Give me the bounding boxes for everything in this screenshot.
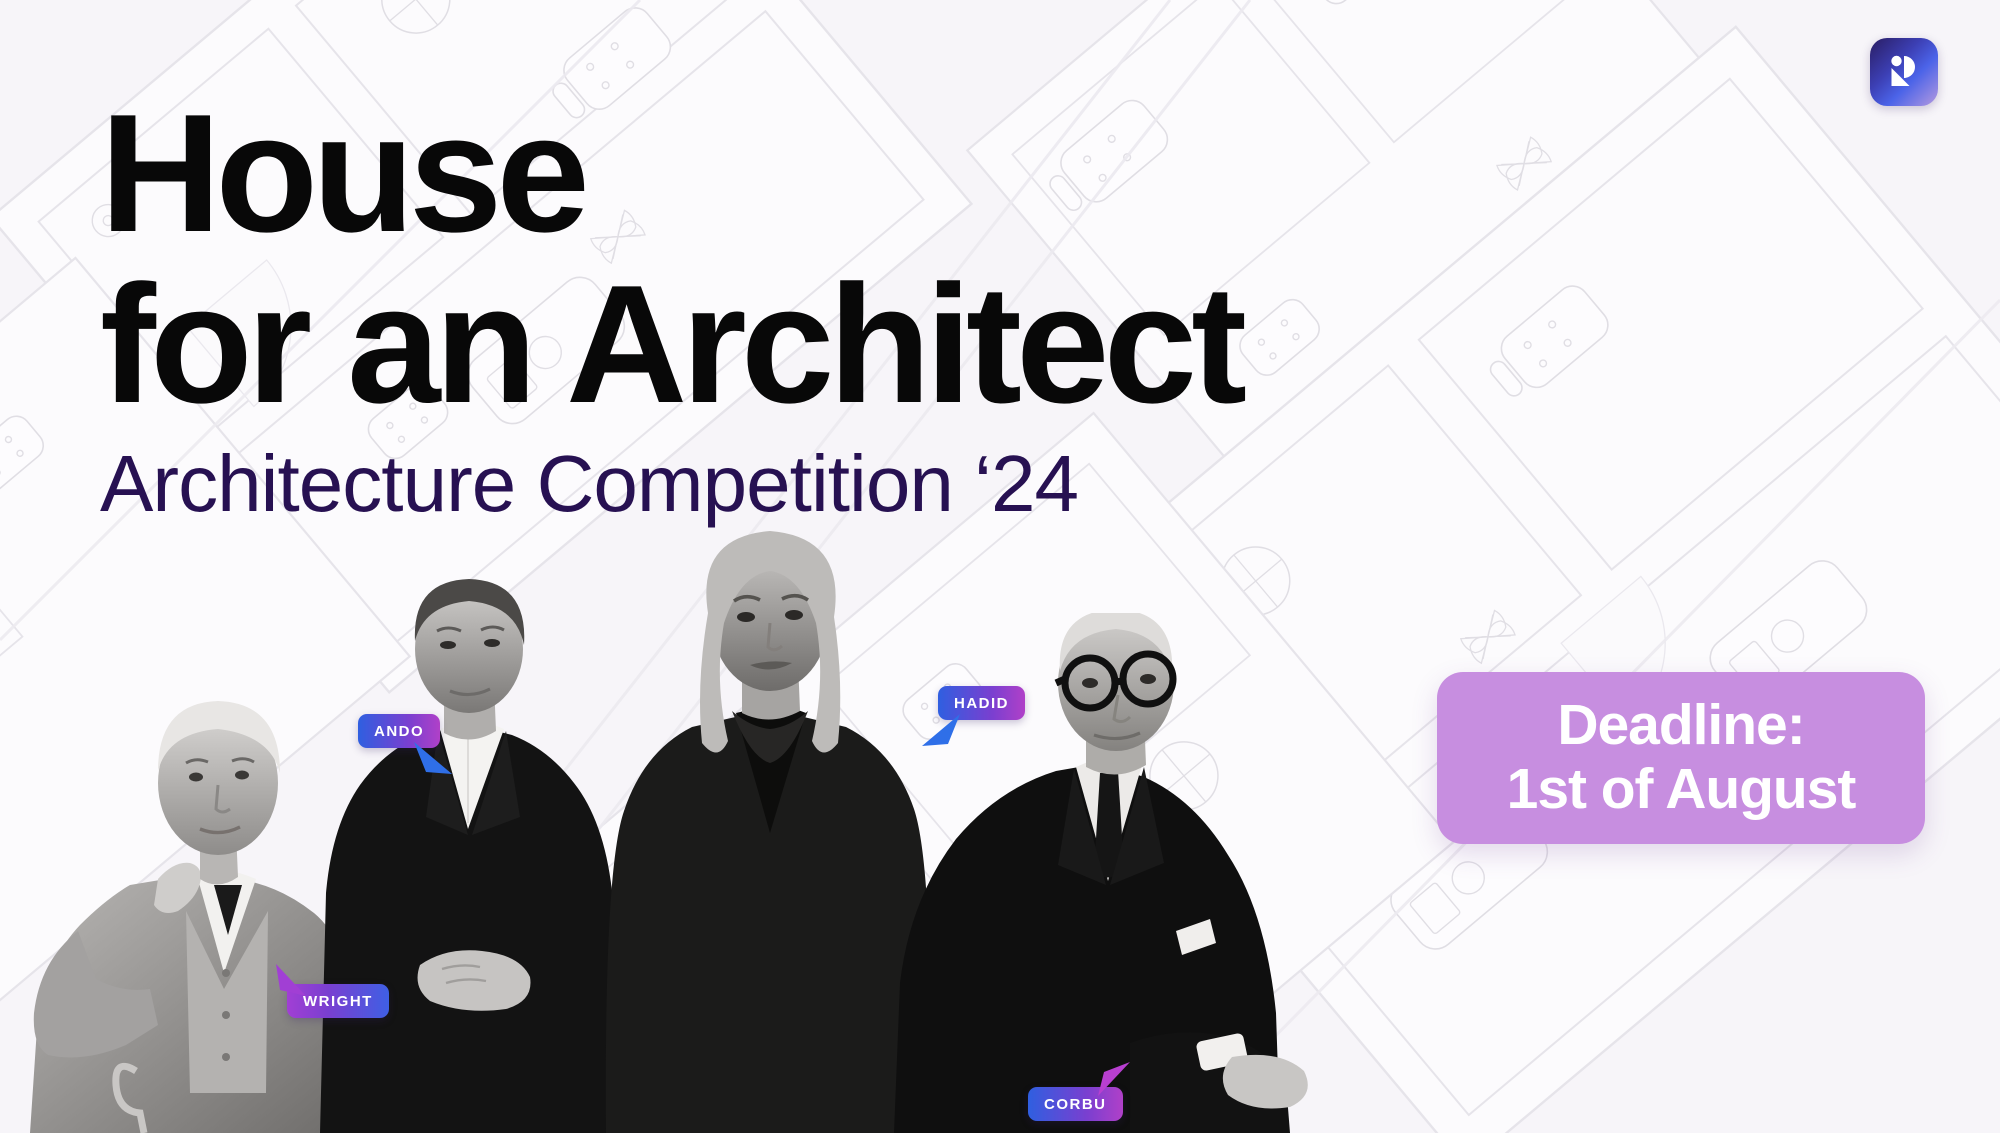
name-tag-ando-label: ANDO — [374, 723, 424, 740]
brand-logo-mark-icon — [1884, 52, 1924, 92]
name-tag-corbu-pointer-icon — [1092, 1060, 1134, 1102]
name-tag-hadid-pointer-icon — [920, 712, 962, 752]
portrait-tadao-ando — [316, 573, 636, 1133]
deadline-badge[interactable]: Deadline: 1st of August — [1437, 672, 1925, 844]
deadline-line-1: Deadline: — [1557, 694, 1804, 758]
name-tag-wright-label: WRIGHT — [303, 993, 373, 1010]
headline-line-1: House — [100, 92, 1241, 255]
brand-logo[interactable] — [1870, 38, 1938, 106]
name-tag-hadid-label: HADID — [954, 695, 1009, 712]
headline-line-2: for an Architect — [100, 263, 1241, 426]
name-tag-ando-pointer-icon — [412, 740, 454, 780]
name-tag-wright-pointer-icon — [272, 962, 312, 1002]
poster-canvas: House for an Architect Architecture Comp… — [0, 0, 2000, 1133]
subtitle: Architecture Competition ‘24 — [100, 444, 1241, 524]
deadline-line-2: 1st of August — [1507, 758, 1856, 822]
title-block: House for an Architect Architecture Comp… — [100, 92, 1241, 524]
